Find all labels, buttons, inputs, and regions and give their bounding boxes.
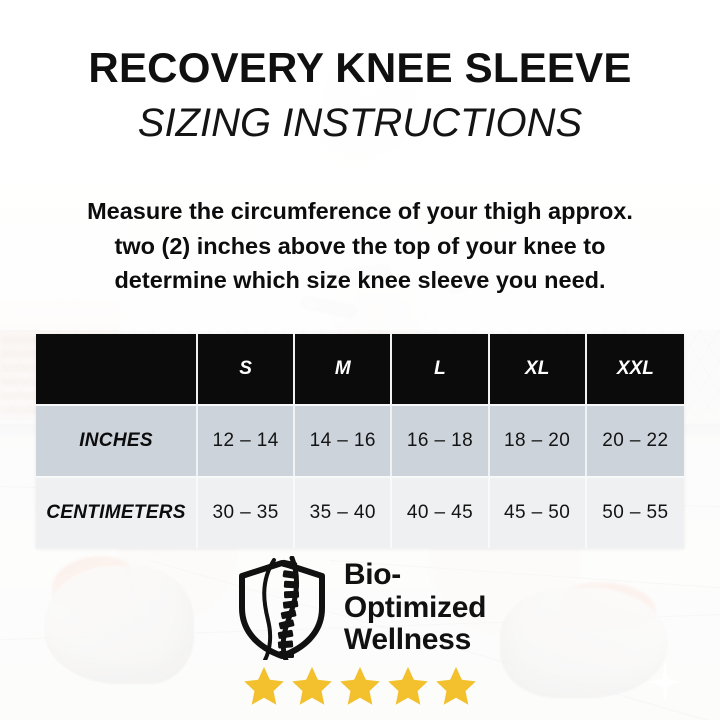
- brand-name-line-3: Wellness: [344, 624, 486, 656]
- content-layer: RECOVERY KNEE SLEEVE SIZING INSTRUCTIONS…: [0, 0, 720, 720]
- cell-inches-m: 14 – 16: [295, 404, 392, 476]
- sizing-chart-page: RECOVERY KNEE SLEEVE SIZING INSTRUCTIONS…: [0, 0, 720, 720]
- cell-cm-l: 40 – 45: [392, 476, 489, 548]
- instructions-line-3: determine which size knee sleeve you nee…: [34, 263, 686, 298]
- star-icon: [242, 664, 286, 708]
- brand-logo: Bio- Optimized Wellness: [0, 556, 720, 660]
- column-header-s: S: [198, 334, 295, 404]
- table-row-inches: INCHES 12 – 14 14 – 16 16 – 18 18 – 20 2…: [36, 404, 684, 476]
- page-title: RECOVERY KNEE SLEEVE: [0, 47, 720, 89]
- star-icon: [434, 664, 478, 708]
- column-header-xl: XL: [490, 334, 587, 404]
- table-corner-cell: [36, 334, 198, 404]
- size-chart-table: S M L XL XXL INCHES 12 – 14 14 – 16 16 –…: [36, 334, 684, 548]
- cell-cm-m: 35 – 40: [295, 476, 392, 548]
- star-icon: [338, 664, 382, 708]
- star-icon: [386, 664, 430, 708]
- brand-name-line-2: Optimized: [344, 592, 486, 624]
- cell-inches-xxl: 20 – 22: [587, 404, 684, 476]
- cell-inches-l: 16 – 18: [392, 404, 489, 476]
- cell-cm-xxl: 50 – 55: [587, 476, 684, 548]
- column-header-m: M: [295, 334, 392, 404]
- cell-cm-xl: 45 – 50: [490, 476, 587, 548]
- instructions-line-2: two (2) inches above the top of your kne…: [34, 229, 686, 264]
- table-header-row: S M L XL XXL: [36, 334, 684, 404]
- brand-name: Bio- Optimized Wellness: [344, 559, 486, 656]
- row-label-inches: INCHES: [36, 404, 198, 476]
- instructions-line-1: Measure the circumference of your thigh …: [34, 194, 686, 229]
- row-label-centimeters: CENTIMETERS: [36, 476, 198, 548]
- column-header-xxl: XXL: [587, 334, 684, 404]
- table-row-centimeters: CENTIMETERS 30 – 35 35 – 40 40 – 45 45 –…: [36, 476, 684, 548]
- instructions-text: Measure the circumference of your thigh …: [34, 194, 686, 298]
- cell-cm-s: 30 – 35: [198, 476, 295, 548]
- cell-inches-s: 12 – 14: [198, 404, 295, 476]
- brand-name-line-1: Bio-: [344, 559, 486, 591]
- shield-spine-icon: [234, 556, 330, 660]
- cell-inches-xl: 18 – 20: [490, 404, 587, 476]
- star-icon: [290, 664, 334, 708]
- star-rating: [0, 664, 720, 708]
- page-subtitle: SIZING INSTRUCTIONS: [0, 102, 720, 144]
- column-header-l: L: [392, 334, 489, 404]
